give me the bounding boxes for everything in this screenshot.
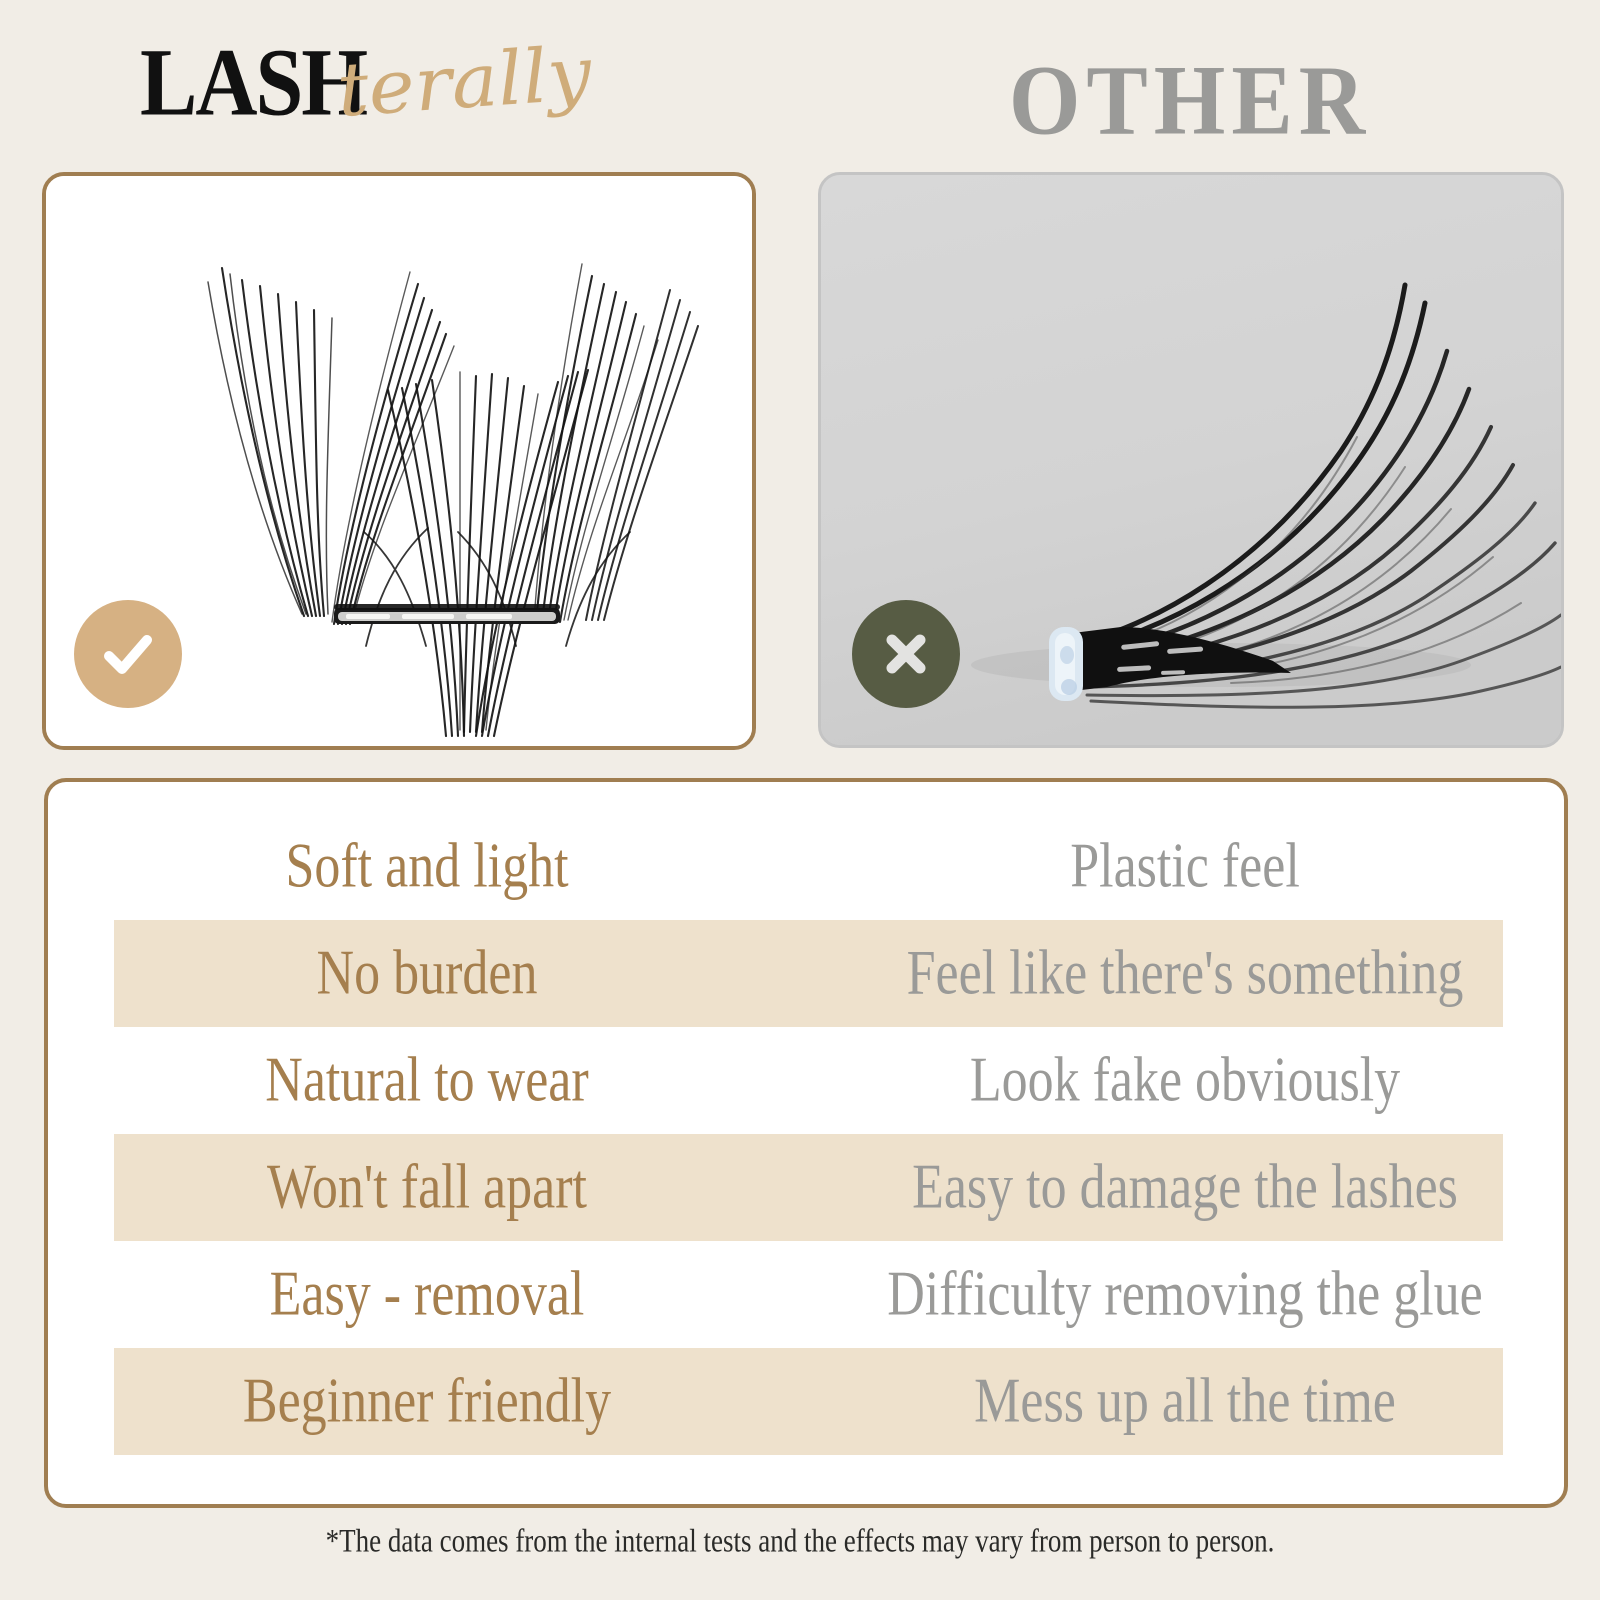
comparison-rows: Soft and light Plastic feel No burden Fe… <box>48 782 1564 1455</box>
comparison-table: Soft and light Plastic feel No burden Fe… <box>44 778 1568 1508</box>
row-good-label: Natural to wear <box>265 1049 588 1112</box>
row-good-label: Soft and light <box>285 835 568 898</box>
row-bad-cell: Easy to damage the lashes <box>806 1134 1564 1241</box>
row-bad-label: Look fake obviously <box>970 1049 1400 1112</box>
x-circle-icon <box>852 600 960 708</box>
logo-script-text: terally <box>335 36 594 128</box>
row-bad-cell: Difficulty removing the glue <box>806 1241 1564 1348</box>
table-row: Natural to wear Look fake obviously <box>48 1027 1564 1134</box>
row-good-cell: Beginner friendly <box>48 1348 806 1455</box>
row-bad-cell: Mess up all the time <box>806 1348 1564 1455</box>
row-bad-label: Mess up all the time <box>974 1370 1396 1433</box>
table-row: Easy - removal Difficulty removing the g… <box>48 1241 1564 1348</box>
row-bad-label: Plastic feel <box>1070 835 1300 898</box>
row-good-label: Beginner friendly <box>243 1370 611 1433</box>
row-good-cell: Natural to wear <box>48 1027 806 1134</box>
table-row: No burden Feel like there's something <box>48 920 1564 1027</box>
row-good-cell: Easy - removal <box>48 1241 806 1348</box>
table-row: Won't fall apart Easy to damage the lash… <box>48 1134 1564 1241</box>
comparison-infographic: LASH terally OTHER <box>0 0 1600 1600</box>
disclaimer-text: *The data comes from the internal tests … <box>0 1525 1600 1557</box>
check-circle-icon <box>74 600 182 708</box>
row-bad-cell: Look fake obviously <box>806 1027 1564 1134</box>
row-good-label: Won't fall apart <box>267 1156 587 1219</box>
row-bad-label: Feel like there's something <box>907 942 1464 1005</box>
row-good-label: No burden <box>317 942 538 1005</box>
x-glyph <box>875 623 937 685</box>
row-bad-label: Easy to damage the lashes <box>912 1156 1458 1219</box>
row-bad-cell: Plastic feel <box>806 813 1564 920</box>
brand-logo: LASH terally <box>140 44 700 154</box>
row-good-cell: Soft and light <box>48 813 806 920</box>
check-glyph <box>97 623 159 685</box>
row-good-cell: Won't fall apart <box>48 1134 806 1241</box>
table-row: Soft and light Plastic feel <box>48 813 1564 920</box>
other-column-header: OTHER <box>820 42 1560 159</box>
row-bad-cell: Feel like there's something <box>806 920 1564 1027</box>
row-good-cell: No burden <box>48 920 806 1027</box>
logo-primary-text: LASH <box>140 34 366 130</box>
table-row: Beginner friendly Mess up all the time <box>48 1348 1564 1455</box>
row-bad-label: Difficulty removing the glue <box>887 1263 1482 1326</box>
row-good-label: Easy - removal <box>270 1263 585 1326</box>
